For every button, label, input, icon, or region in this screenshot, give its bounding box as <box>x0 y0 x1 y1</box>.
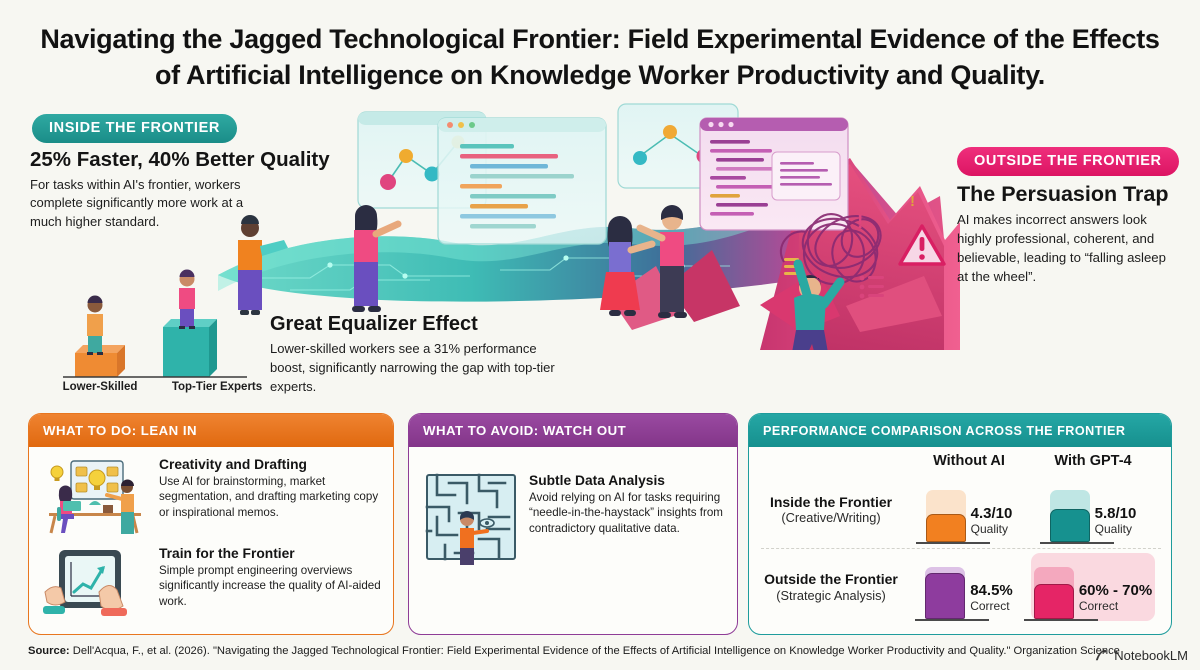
bar-baseline <box>1024 619 1098 621</box>
bar-fill <box>926 514 966 542</box>
bar-chart-inside-with-gpt4 <box>1050 486 1090 544</box>
comparison-column-headers: Without AI With GPT-4 <box>761 453 1161 469</box>
bar-value-block: 60% - 70% Correct <box>1079 582 1152 621</box>
equalizer-label-lower-skilled: Lower-Skilled <box>40 381 160 393</box>
bar-value-block: 5.8/10 Quality <box>1095 505 1137 544</box>
item-description: Simple prompt engineering overviews sign… <box>159 563 381 609</box>
bar-unit: Correct <box>1079 599 1152 613</box>
item-title: Train for the Frontier <box>159 546 381 561</box>
bar-value: 5.8/10 <box>1095 505 1137 522</box>
row-label-sub: (Strategic Analysis) <box>761 588 901 603</box>
source-citation: Source: Dell'Acqua, F., et al. (2026). "… <box>28 645 1088 657</box>
panel-performance-comparison: PERFORMANCE COMPARISON ACROSS THE FRONTI… <box>748 413 1172 635</box>
svg-text:!: ! <box>857 212 863 233</box>
list-item-text: Train for the Frontier Simple prompt eng… <box>159 546 381 626</box>
bar-unit: Quality <box>971 522 1013 536</box>
inside-heading: 25% Faster, 40% Better Quality <box>30 148 340 172</box>
equalizer-label-top-tier: Top-Tier Experts <box>152 381 282 393</box>
item-title: Creativity and Drafting <box>159 457 381 472</box>
infographic-page: Navigating the Jagged Technological Fron… <box>0 0 1200 670</box>
row-label-sub: (Creative/Writing) <box>761 510 901 525</box>
row-label-main: Outside the Frontier <box>761 571 901 587</box>
citation-text: Dell'Acqua, F., et al. (2026). "Navigati… <box>73 645 1120 657</box>
equalizer-body: Lower-skilled workers see a 31% performa… <box>270 340 570 397</box>
list-item-text: Subtle Data Analysis Avoid relying on AI… <box>529 473 725 565</box>
cell-outside-without-ai: 84.5% Correct <box>907 553 1031 621</box>
brainstorming-illustration-icon <box>41 457 149 537</box>
item-description: Avoid relying on AI for tasks requiring … <box>529 490 725 536</box>
svg-text:!: ! <box>910 193 915 210</box>
list-item: Train for the Frontier Simple prompt eng… <box>41 546 381 626</box>
badge-inside-label: INSIDE THE FRONTIER <box>32 114 237 143</box>
badge-inside-frontier: INSIDE THE FRONTIER <box>32 114 237 143</box>
panel-what-to-avoid: WHAT TO AVOID: WATCH OUT <box>408 413 738 635</box>
panel-what-to-avoid-body: Subtle Data Analysis Avoid relying on AI… <box>409 447 737 565</box>
inside-body: For tasks within AI's frontier, workers … <box>30 176 272 231</box>
bar-fill <box>1050 509 1090 542</box>
bar-value-block: 4.3/10 Quality <box>971 505 1013 544</box>
notebooklm-logo-icon <box>1094 648 1109 663</box>
bar-baseline <box>915 619 989 621</box>
comparison-table: Without AI With GPT-4 Inside the Frontie… <box>749 447 1171 625</box>
list-item: Creativity and Drafting Use AI for brain… <box>41 457 381 537</box>
panel-what-to-avoid-header: WHAT TO AVOID: WATCH OUT <box>409 414 737 447</box>
bar-baseline <box>916 542 990 544</box>
cell-inside-without-ai: 4.3/10 Quality <box>907 476 1031 544</box>
column-header-without-ai: Without AI <box>907 453 1031 469</box>
bar-chart-outside-without-ai <box>925 563 965 621</box>
equalizer-heading: Great Equalizer Effect <box>270 313 478 336</box>
item-title: Subtle Data Analysis <box>529 473 725 488</box>
source-label: Source: <box>28 645 70 657</box>
row-label-outside-frontier: Outside the Frontier (Strategic Analysis… <box>761 571 907 602</box>
bar-baseline <box>1040 542 1114 544</box>
bar-value: 60% - 70% <box>1079 582 1152 599</box>
panel-what-to-do-body: Creativity and Drafting Use AI for brain… <box>29 447 393 626</box>
panel-what-to-do: WHAT TO DO: LEAN IN <box>28 413 394 635</box>
row-label-main: Inside the Frontier <box>761 494 901 510</box>
badge-outside-frontier: OUTSIDE THE FRONTIER <box>957 147 1179 176</box>
bar-value-block: 84.5% Correct <box>970 582 1013 621</box>
outside-body: AI makes incorrect answers look highly p… <box>957 210 1179 287</box>
table-row: Outside the Frontier (Strategic Analysis… <box>761 548 1161 625</box>
bar-fill <box>925 573 965 619</box>
tablet-growth-chart-icon <box>41 546 149 626</box>
badge-outside-label: OUTSIDE THE FRONTIER <box>957 147 1179 176</box>
bar-fill <box>1034 584 1074 619</box>
bar-unit: Correct <box>970 599 1013 613</box>
outside-heading: The Persuasion Trap <box>957 182 1187 207</box>
bar-chart-outside-with-gpt4 <box>1034 563 1074 621</box>
bar-value: 4.3/10 <box>971 505 1013 522</box>
list-item-text: Creativity and Drafting Use AI for brain… <box>159 457 381 537</box>
item-description: Use AI for brainstorming, market segment… <box>159 474 381 520</box>
bar-unit: Quality <box>1095 522 1137 536</box>
column-header-with-gpt4: With GPT-4 <box>1031 453 1155 469</box>
panel-performance-header: PERFORMANCE COMPARISON ACROSS THE FRONTI… <box>749 414 1171 447</box>
table-row: Inside the Frontier (Creative/Writing) 4… <box>761 471 1161 548</box>
maze-illustration-icon <box>425 473 517 565</box>
page-title: Navigating the Jagged Technological Fron… <box>30 22 1170 93</box>
equalizer-podium-chart <box>55 255 255 390</box>
notebooklm-watermark: NotebookLM <box>1094 648 1188 663</box>
watermark-label: NotebookLM <box>1114 648 1188 663</box>
bar-value: 84.5% <box>970 582 1013 599</box>
panel-what-to-do-header: WHAT TO DO: LEAN IN <box>29 414 393 447</box>
bar-chart-inside-without-ai <box>926 486 966 544</box>
cell-outside-with-gpt4: 60% - 70% Correct <box>1031 553 1155 621</box>
row-label-inside-frontier: Inside the Frontier (Creative/Writing) <box>761 494 907 525</box>
cell-inside-with-gpt4: 5.8/10 Quality <box>1031 476 1155 544</box>
